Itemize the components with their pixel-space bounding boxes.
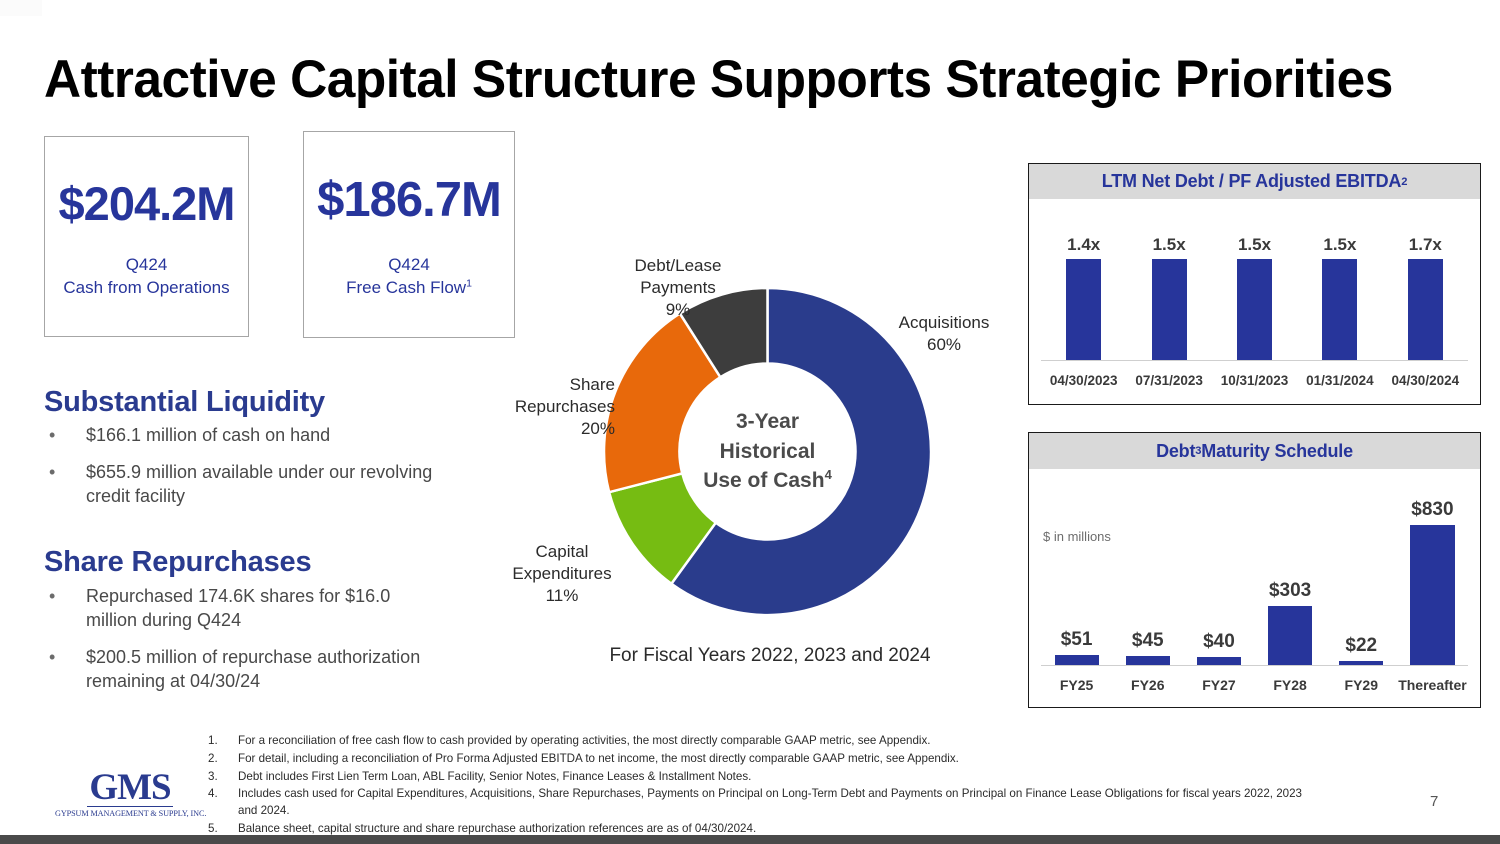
bottom-accent-bar [0,835,1500,844]
bullet-marker-icon: • [44,460,86,508]
bar-value-label: 1.5x [1238,235,1271,255]
donut-label-debt-lease-payments: Debt/Lease Payments 9% [618,255,738,320]
bar [1322,259,1357,360]
list-item: • $166.1 million of cash on hand [44,423,444,447]
footnote-item: 4.Includes cash used for Capital Expendi… [208,786,1318,820]
bar-slot: 1.5x [1212,235,1297,360]
category-label: Thereafter [1397,677,1468,693]
footnotes-list: 1.For a reconciliation of free cash flow… [208,733,1318,839]
footnote-item: 1.For a reconciliation of free cash flow… [208,733,1318,750]
bar [1410,525,1454,665]
category-label: FY26 [1112,677,1183,693]
bar-value-label: 1.5x [1153,235,1186,255]
page-title: Attractive Capital Structure Supports St… [44,52,1402,108]
debt-category-labels: FY25FY26FY27FY28FY29Thereafter [1041,677,1468,693]
bar-slot: 1.5x [1126,235,1211,360]
debt-bar-group: $51$45$40$303$22$830 [1041,499,1468,665]
donut-label-capital-expenditures: Capital Expenditures 11% [493,541,631,606]
bar [1126,656,1170,665]
panel-body: $ in millions $51$45$40$303$22$830 FY25F… [1029,469,1480,707]
bar [1055,655,1099,665]
leverage-axis-line [1041,360,1468,361]
bar [1066,259,1101,360]
category-label: 04/30/2024 [1383,373,1468,388]
category-label: FY27 [1183,677,1254,693]
bar-slot: $40 [1183,499,1254,665]
bullet-list-share-repurchases: • Repurchased 174.6K shares for $16.0 mi… [44,584,444,706]
bullet-list-substantial-liquidity: • $166.1 million of cash on hand • $655.… [44,423,444,521]
metric-caption-period: Q424 [126,255,168,274]
bar [1268,606,1312,665]
list-item-label: $200.5 million of repurchase authorizati… [86,645,444,693]
footnote-text: Debt includes First Lien Term Loan, ABL … [238,769,1318,786]
list-item: • $655.9 million available under our rev… [44,460,444,508]
footnote-marker: 1 [466,278,472,290]
bar-slot: $51 [1041,499,1112,665]
category-label: FY28 [1255,677,1326,693]
bar-value-label: $303 [1269,580,1311,602]
metric-caption: Q424 Free Cash Flow1 [304,253,514,300]
bar-value-label: $45 [1132,630,1164,652]
section-heading-substantial-liquidity: Substantial Liquidity [44,386,325,419]
list-item-label: $166.1 million of cash on hand [86,423,444,447]
logo-tagline: GYPSUM MANAGEMENT & SUPPLY, INC. [55,809,205,818]
footnote-text: For a reconciliation of free cash flow t… [238,733,1318,750]
bar [1237,259,1272,360]
metric-caption-label: Cash from Operations [63,278,229,297]
debt-axis-line [1041,665,1468,666]
panel-body: 1.4x1.5x1.5x1.5x1.7x 04/30/202307/31/202… [1029,199,1480,404]
bar [1197,657,1241,665]
donut-caption: For Fiscal Years 2022, 2023 and 2024 [560,645,980,667]
metric-caption-label: Free Cash Flow [346,278,466,297]
footnote-number: 3. [208,769,238,786]
bar-slot: $45 [1112,499,1183,665]
leverage-category-labels: 04/30/202307/31/202310/31/202301/31/2024… [1041,373,1468,388]
metric-card-cash-from-operations: $204.2M Q424 Cash from Operations [44,136,249,337]
category-label: 04/30/2023 [1041,373,1126,388]
footnote-item: 2.For detail, including a reconciliation… [208,751,1318,768]
leverage-bar-group: 1.4x1.5x1.5x1.5x1.7x [1041,235,1468,360]
footnote-item: 3.Debt includes First Lien Term Loan, AB… [208,769,1318,786]
footnote-number: 1. [208,733,238,750]
list-item: • Repurchased 174.6K shares for $16.0 mi… [44,584,444,632]
footnote-text: For detail, including a reconciliation o… [238,751,1318,768]
footnote-text: Includes cash used for Capital Expenditu… [238,786,1318,820]
bar-slot: $303 [1255,499,1326,665]
slide: Attractive Capital Structure Supports St… [0,0,1500,844]
panel-debt-maturity-schedule: Debt3 Maturity Schedule $ in millions $5… [1028,432,1481,708]
bar-slot: 1.5x [1297,235,1382,360]
top-left-artifact [0,0,42,16]
category-label: 07/31/2023 [1126,373,1211,388]
bar-value-label: 1.5x [1323,235,1356,255]
bar-slot: $22 [1326,499,1397,665]
list-item-label: $655.9 million available under our revol… [86,460,444,508]
bar-value-label: $51 [1061,629,1093,651]
footnote-number: 4. [208,786,238,820]
donut-label-share-repurchases: Share Repurchases 20% [490,374,615,439]
bar-slot: 1.4x [1041,235,1126,360]
donut-svg [604,288,931,615]
bar [1408,259,1443,360]
panel-ltm-net-debt-ebitda: LTM Net Debt / PF Adjusted EBITDA2 1.4x1… [1028,163,1481,405]
donut-slices [604,288,931,615]
metric-value: $204.2M [45,180,248,227]
company-logo: GMS GYPSUM MANAGEMENT & SUPPLY, INC. [55,770,205,818]
metric-caption: Q424 Cash from Operations [45,253,248,300]
category-label: 10/31/2023 [1212,373,1297,388]
page-number: 7 [1430,793,1438,810]
list-item-label: Repurchased 174.6K shares for $16.0 mill… [86,584,444,632]
bar-value-label: $830 [1411,499,1453,521]
use-of-cash-donut-chart: 3-Year Historical Use of Cash4 [604,288,931,615]
panel-title: LTM Net Debt / PF Adjusted EBITDA2 [1029,164,1480,199]
metric-value: $186.7M [304,176,514,225]
bullet-marker-icon: • [44,645,86,693]
category-label: FY25 [1041,677,1112,693]
category-label: FY29 [1326,677,1397,693]
donut-label-acquisitions: Acquisitions 60% [890,312,998,356]
bar-slot: $830 [1397,499,1468,665]
bar-value-label: $22 [1345,635,1377,657]
bar [1152,259,1187,360]
logo-wordmark: GMS [87,770,172,807]
category-label: 01/31/2024 [1297,373,1382,388]
list-item: • $200.5 million of repurchase authoriza… [44,645,444,693]
panel-title: Debt3 Maturity Schedule [1029,433,1480,469]
footnote-number: 2. [208,751,238,768]
bar-value-label: 1.4x [1067,235,1100,255]
bar-slot: 1.7x [1383,235,1468,360]
metric-caption-period: Q424 [388,255,430,274]
bar-value-label: 1.7x [1409,235,1442,255]
section-heading-share-repurchases: Share Repurchases [44,546,311,579]
metric-card-free-cash-flow: $186.7M Q424 Free Cash Flow1 [303,131,515,338]
bar-value-label: $40 [1203,631,1235,653]
bullet-marker-icon: • [44,423,86,447]
bullet-marker-icon: • [44,584,86,632]
